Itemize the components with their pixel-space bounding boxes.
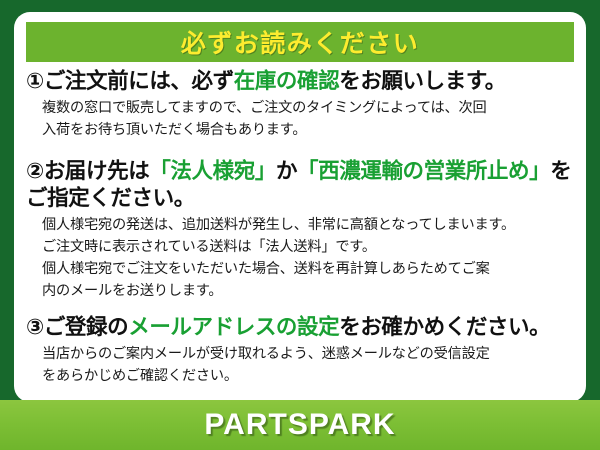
item-marker-3: ③ xyxy=(26,315,44,339)
notice-item-3-body-line-2: をあらかじめご確認ください。 xyxy=(42,366,578,386)
notice-item-2: ②お届け先は「法人様宛」か「西濃運輸の営業所止め」をご指定ください。 個人様宅宛… xyxy=(26,158,578,302)
spacer-1 xyxy=(26,142,578,158)
item-1-head-pre: ご注文前には、必ず xyxy=(44,69,234,93)
notice-item-3-body-line-1: 当店からのご案内メールが受け取れるよう、迷惑メールなどの受信設定 xyxy=(42,344,578,364)
brand-name: PARTSPARK xyxy=(204,408,395,442)
item-2-head-pre: お届け先は xyxy=(44,159,150,183)
item-2-head-highlight: 「法人様宛」 xyxy=(149,159,276,183)
notice-item-2-body-line-1: 個人様宅宛の発送は、追加送料が発生し、非常に高額となってしまいます。 xyxy=(42,215,578,235)
notice-item-1-body-line-2: 入荷をお待ち頂いただく場合もあります。 xyxy=(42,120,578,140)
notice-item-1-body-line-1: 複数の窓口で販売してますので、ご注文のタイミングによっては、次回 xyxy=(42,98,578,118)
item-3-head-pre: ご登録の xyxy=(44,315,128,339)
brand-footer: PARTSPARK xyxy=(0,400,600,450)
notice-item-2-body-line-2: ご注文時に表示されている送料は「法人送料」です。 xyxy=(42,237,578,257)
item-3-head-highlight: メールアドレスの設定 xyxy=(128,315,339,339)
item-3-head-post: をお確かめください。 xyxy=(339,315,550,339)
notice-banner: 必ずお読みください ①ご注文前には、必ず在庫の確認をお願いします。 複数の窓口で… xyxy=(0,0,600,450)
title-band: 必ずお読みください xyxy=(26,22,574,62)
notice-item-3-heading: ③ご登録のメールアドレスの設定をお確かめください。 xyxy=(26,314,578,342)
notice-item-1-heading: ①ご注文前には、必ず在庫の確認をお願いします。 xyxy=(26,68,578,96)
page-title: 必ずお読みください xyxy=(181,24,420,60)
item-1-head-post: をお願いします。 xyxy=(339,69,506,93)
item-marker-2: ② xyxy=(26,159,44,183)
notice-content: ①ご注文前には、必ず在庫の確認をお願いします。 複数の窓口で販売してますので、ご… xyxy=(26,68,578,388)
spacer-2 xyxy=(26,303,578,314)
item-2-head-highlight-2: 「西濃運輸の営業所止め」 xyxy=(297,159,550,183)
notice-item-2-body-line-3: 個人様宅宛でご注文をいただいた場合、送料を再計算しあらためてご案 xyxy=(42,259,578,279)
notice-item-1: ①ご注文前には、必ず在庫の確認をお願いします。 複数の窓口で販売してますので、ご… xyxy=(26,68,578,140)
notice-card: 必ずお読みください ①ご注文前には、必ず在庫の確認をお願いします。 複数の窓口で… xyxy=(14,12,586,402)
notice-item-2-heading: ②お届け先は「法人様宛」か「西濃運輸の営業所止め」をご指定ください。 xyxy=(26,158,578,213)
item-marker-1: ① xyxy=(26,69,44,93)
notice-item-3: ③ご登録のメールアドレスの設定をお確かめください。 当店からのご案内メールが受け… xyxy=(26,314,578,386)
item-1-head-highlight: 在庫の確認 xyxy=(234,69,340,93)
notice-item-2-body-line-4: 内のメールをお送りします。 xyxy=(42,281,578,301)
item-2-head-mid: か xyxy=(276,159,297,183)
